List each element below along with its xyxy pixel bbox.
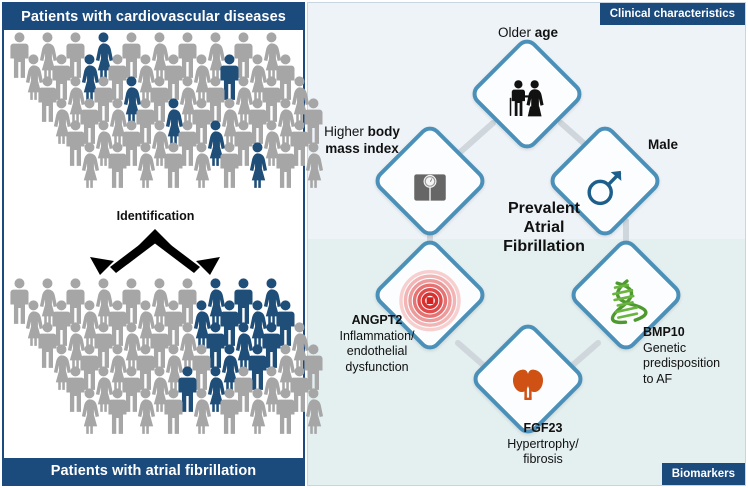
crowd-figure: [302, 388, 325, 434]
label-angpt2: ANGPT2 Inflammation/ endothelial dysfunc…: [314, 313, 440, 375]
left-panel: Patients with cardiovascular diseases Id…: [2, 2, 305, 486]
crowd-figure: [190, 142, 213, 188]
crowd-figure: [218, 142, 241, 188]
crowd-figure: [162, 142, 185, 188]
crowd-figure: [162, 388, 185, 434]
bathroom-scale-icon: [388, 145, 472, 229]
crowd-figure: [134, 142, 157, 188]
label-fgf23-title: FGF23: [468, 421, 618, 437]
crowd-figure: [134, 388, 157, 434]
crowd-figure: [302, 142, 325, 188]
crowd-figure: [106, 388, 129, 434]
elderly-couple-icon: [485, 58, 569, 142]
label-bmp10-desc-1: Genetic: [643, 341, 746, 357]
left-panel-top-banner: Patients with cardiovascular diseases: [4, 4, 303, 30]
crowd-figure: [78, 388, 101, 434]
label-angpt2-desc-2: endothelial: [314, 344, 440, 360]
center-title-line-1: Prevalent: [469, 199, 619, 218]
label-higher-bmi-prefix: Higher: [324, 124, 368, 139]
left-panel-bottom-banner: Patients with atrial fibrillation: [4, 458, 303, 484]
label-fgf23: FGF23 Hypertrophy/ fibrosis: [468, 421, 618, 468]
kidneys-icon: [486, 343, 570, 427]
identification-label: Identification: [4, 209, 307, 223]
cardiovascular-crowd: [4, 32, 303, 210]
label-angpt2-desc-3: dysfunction: [314, 360, 440, 376]
label-bmp10-title: BMP10: [643, 325, 746, 341]
crowd-figure: [274, 388, 297, 434]
atrial-fibrillation-crowd: [4, 278, 303, 462]
center-title: Prevalent Atrial Fibrillation: [469, 199, 619, 256]
label-older-age-bold: age: [535, 25, 558, 40]
figure-root: Patients with cardiovascular diseases Id…: [0, 0, 748, 488]
label-fgf23-desc-1: Hypertrophy/: [468, 437, 618, 453]
label-older-age: Older age: [448, 25, 608, 40]
center-title-line-2: Atrial: [469, 218, 619, 237]
right-panel: Prevalent Atrial Fibrillation Older age …: [307, 2, 746, 486]
label-fgf23-desc-2: fibrosis: [468, 452, 618, 468]
label-bmp10-desc-2: predisposition: [643, 356, 746, 372]
label-bmp10: BMP10 Genetic predisposition to AF: [643, 325, 746, 387]
label-angpt2-desc-1: Inflammation/: [314, 329, 440, 345]
crowd-figure: [274, 142, 297, 188]
crowd-figure: [78, 142, 101, 188]
identification-arrow-group: Identification: [4, 209, 307, 281]
center-title-line-3: Fibrillation: [469, 237, 619, 256]
label-older-age-prefix: Older: [498, 25, 535, 40]
label-angpt2-title: ANGPT2: [314, 313, 440, 329]
crowd-figure: [246, 142, 269, 188]
label-bmp10-desc-3: to AF: [643, 372, 746, 388]
crowd-figure: [190, 388, 213, 434]
crowd-figure: [246, 388, 269, 434]
label-male: Male: [648, 137, 738, 152]
crowd-figure: [106, 142, 129, 188]
crowd-figure: [218, 388, 241, 434]
